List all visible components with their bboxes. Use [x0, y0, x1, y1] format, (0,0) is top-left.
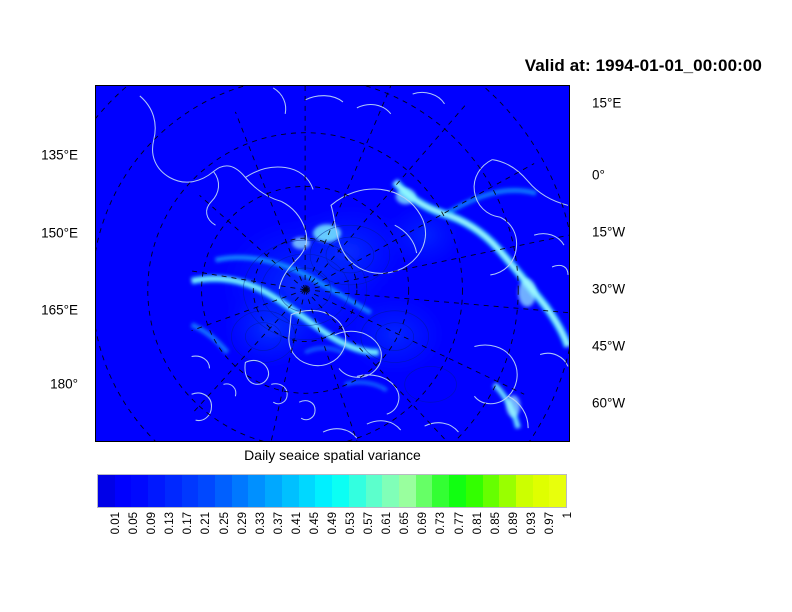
colorbar-cell [416, 475, 433, 507]
colorbar-cell [165, 475, 182, 507]
colorbar-cell [282, 475, 299, 507]
colorbar-tick-label: 1 [562, 512, 574, 518]
colorbar-tick-label: 0.09 [146, 512, 158, 534]
colorbar-cell [466, 475, 483, 507]
colorbar-cell [182, 475, 199, 507]
axis-label-right: 45°W [592, 339, 625, 353]
axis-label-right: 15°E [592, 96, 621, 110]
colorbar-tick-label: 0.69 [417, 512, 429, 534]
colorbar-tick-label: 0.25 [219, 512, 231, 534]
colorbar-cell [483, 475, 500, 507]
colorbar-cell [265, 475, 282, 507]
colorbar-tick-label: 0.49 [327, 512, 339, 534]
colorbar-tick-label: 0.77 [454, 512, 466, 534]
colorbar-cell [98, 475, 115, 507]
colorbar-tick-label: 0.65 [399, 512, 411, 534]
axis-label-right: 30°W [592, 282, 625, 296]
colorbar-cell [198, 475, 215, 507]
axis-label-left: 180° [10, 377, 78, 391]
colorbar-tick-label: 0.81 [472, 512, 484, 534]
colorbar-cell [549, 475, 566, 507]
colorbar-tick-label: 0.21 [200, 512, 212, 534]
colorbar-cell [399, 475, 416, 507]
axis-label-left: 150°E [10, 226, 78, 240]
colorbar-tick-labels: 0.010.050.090.130.170.210.250.290.330.37… [97, 512, 567, 582]
colorbar-tick-label: 0.93 [526, 512, 538, 534]
axis-label-left: 165°E [10, 303, 78, 317]
colorbar-tick-label: 0.53 [345, 512, 357, 534]
colorbar-tick-label: 0.73 [435, 512, 447, 534]
colorbar-cell [215, 475, 232, 507]
colorbar-cell [299, 475, 316, 507]
colorbar-cell [115, 475, 132, 507]
colorbar-cell [332, 475, 349, 507]
colorbar-tick-label: 0.29 [237, 512, 249, 534]
colorbar-tick-label: 0.17 [182, 512, 194, 534]
colorbar-tick-label: 0.57 [363, 512, 375, 534]
colorbar-tick-label: 0.41 [291, 512, 303, 534]
colorbar-tick-label: 0.61 [381, 512, 393, 534]
colorbar-tick-label: 0.33 [255, 512, 267, 534]
axis-label-left: 135°E [10, 148, 78, 162]
colorbar-tick-label: 0.13 [164, 512, 176, 534]
colorbar-tick-label: 0.01 [110, 512, 122, 534]
colorbar-cell [148, 475, 165, 507]
axis-label-right: 15°W [592, 225, 625, 239]
colorbar-cell [449, 475, 466, 507]
colorbar-cell [248, 475, 265, 507]
colorbar-tick-label: 0.37 [273, 512, 285, 534]
figure-root: Valid at: 1994-01-01_00:00:00 [0, 0, 792, 612]
colorbar-cell [432, 475, 449, 507]
colorbar-cell [499, 475, 516, 507]
axis-label-right: 60°W [592, 396, 625, 410]
colorbar-tick-label: 0.05 [128, 512, 140, 534]
colorbar-cell [232, 475, 249, 507]
colorbar-tick-label: 0.45 [309, 512, 321, 534]
colorbar-tick-label: 0.89 [508, 512, 520, 534]
figure-title: Valid at: 1994-01-01_00:00:00 [525, 56, 762, 76]
colorbar-tick-label: 0.97 [544, 512, 556, 534]
colorbar-cell [315, 475, 332, 507]
colorbar-cell [131, 475, 148, 507]
map-canvas [96, 86, 569, 441]
colorbar-cell [533, 475, 550, 507]
colorbar[interactable] [97, 474, 567, 508]
colorbar-cell [516, 475, 533, 507]
colorbar-caption: Daily seaice spatial variance [95, 447, 570, 463]
colorbar-cell [349, 475, 366, 507]
colorbar-tick-label: 0.85 [490, 512, 502, 534]
colorbar-gradient [97, 474, 567, 508]
colorbar-cell [366, 475, 383, 507]
colorbar-cell [382, 475, 399, 507]
map-panel[interactable] [95, 85, 570, 442]
axis-label-right: 0° [592, 168, 605, 182]
